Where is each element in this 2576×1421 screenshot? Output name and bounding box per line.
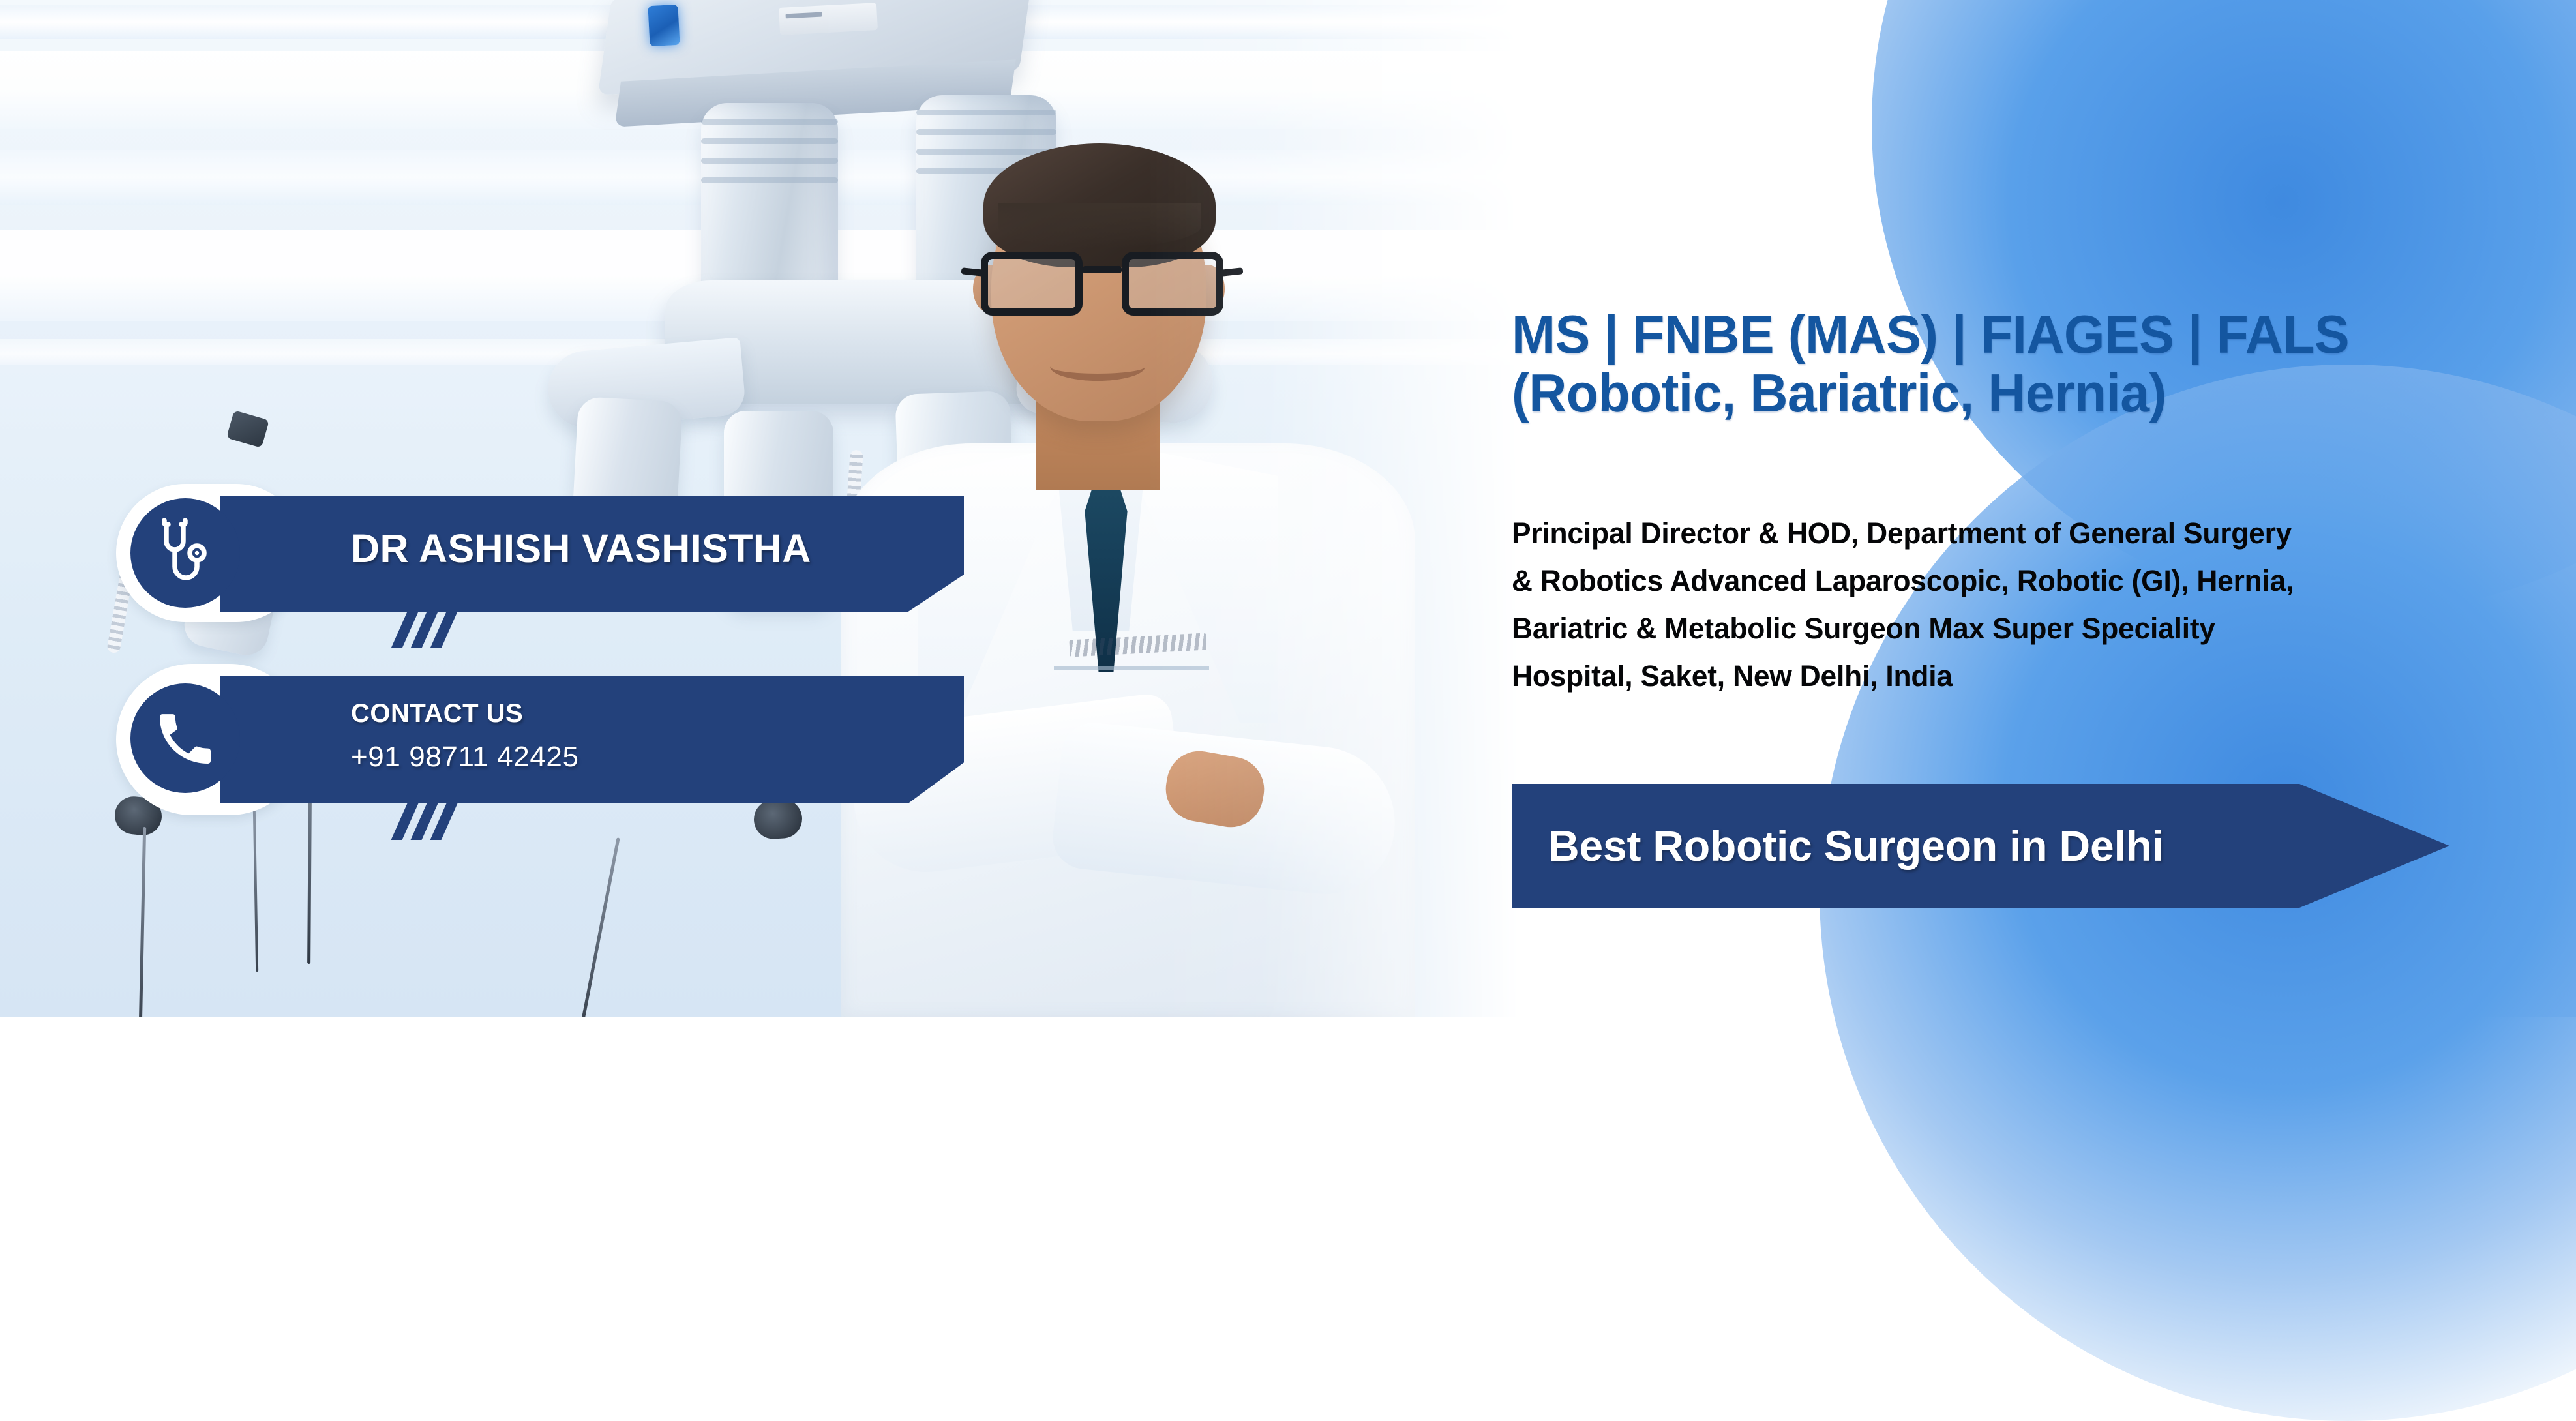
doctor-name-label: DR ASHISH VASHISTHA: [351, 526, 811, 571]
doctor-smile: [1050, 352, 1145, 381]
doctor-name-badge[interactable]: DR ASHISH VASHISTHA: [116, 484, 964, 622]
cta-label: Best Robotic Surgeon in Delhi: [1548, 821, 2164, 871]
contact-badge[interactable]: CONTACT US +91 98711 42425: [116, 664, 964, 815]
contact-phone-number[interactable]: +91 98711 42425: [351, 741, 579, 773]
phone-icon: [130, 683, 240, 793]
contact-us-label: CONTACT US: [351, 699, 523, 728]
credentials-headline: MS | FNBE (MAS) | FIAGES | FALS (Robotic…: [1512, 305, 2498, 422]
robot-label-plate: [779, 3, 878, 35]
best-robotic-surgeon-cta[interactable]: Best Robotic Surgeon in Delhi: [1512, 784, 2449, 908]
contact-badge-slash-accent: [399, 803, 449, 840]
contact-badge-bar: [220, 676, 964, 803]
banner-stage: DR ASHISH VASHISTHA CONTACT US +91 98711…: [0, 0, 2576, 1017]
doctor-hair: [983, 143, 1216, 267]
banner-text-column: MS | FNBE (MAS) | FIAGES | FALS (Robotic…: [1512, 0, 2576, 1017]
robot-status-led: [648, 5, 680, 46]
eyeglasses-icon: [981, 252, 1223, 320]
stethoscope-icon: [130, 498, 240, 608]
name-badge-slash-accent: [399, 612, 449, 648]
designation-paragraph: Principal Director & HOD, Department of …: [1512, 510, 2526, 700]
